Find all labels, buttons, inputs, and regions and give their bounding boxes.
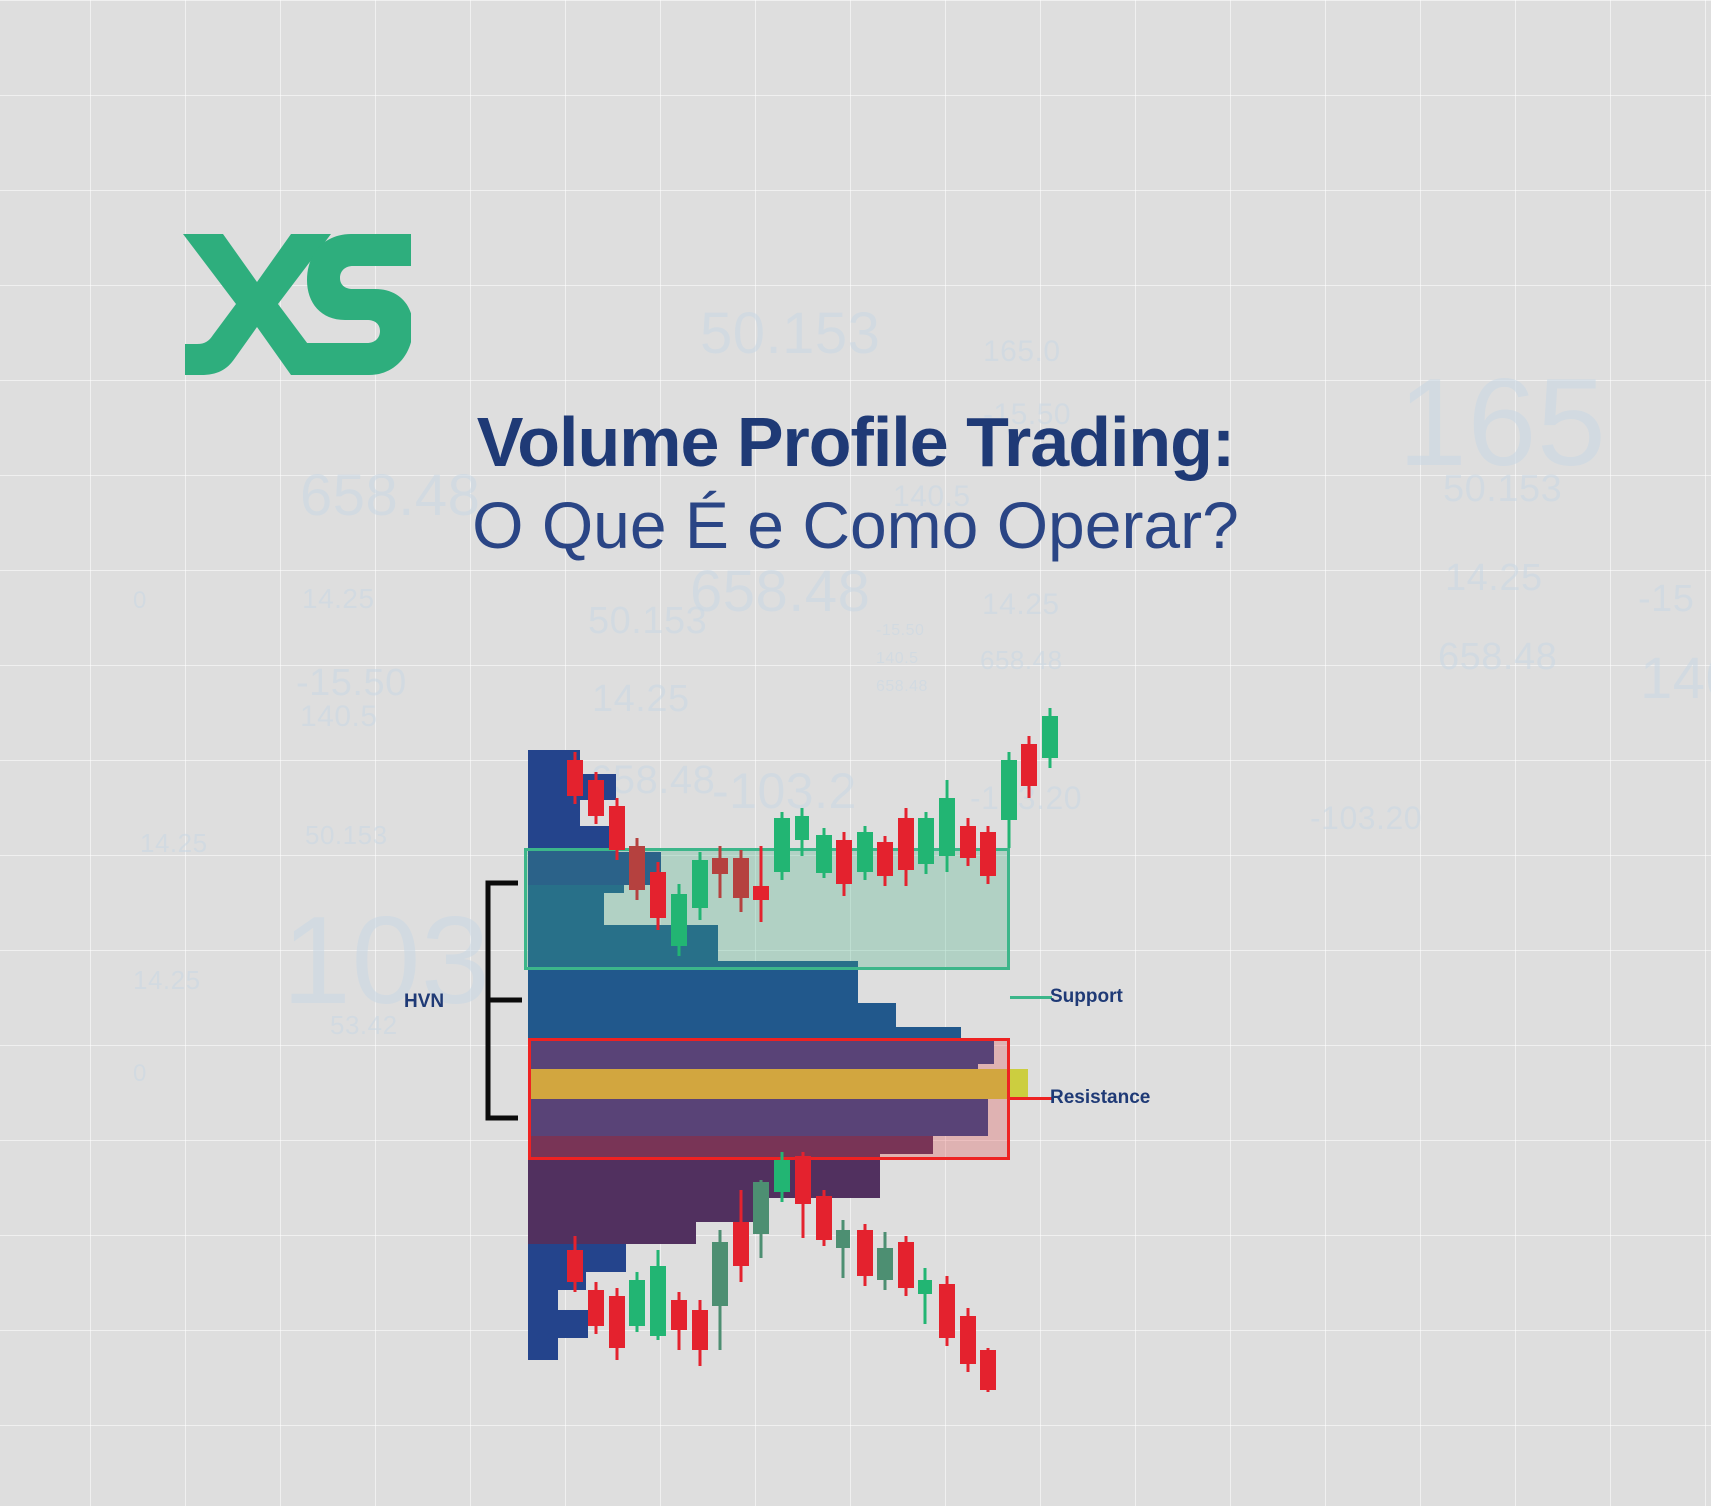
volume-profile-bar — [528, 1338, 558, 1360]
candle-body — [1042, 716, 1058, 758]
volume-profile-bar — [528, 1003, 896, 1027]
candle-body — [629, 1280, 645, 1326]
candlestick — [774, 1152, 790, 1202]
candle-body — [980, 832, 996, 876]
candle-body — [692, 1310, 708, 1350]
candle-body — [753, 886, 769, 900]
volume-profile-bar — [528, 1198, 758, 1222]
candle-body — [816, 835, 832, 873]
candlestick — [857, 1224, 873, 1286]
candlestick — [733, 1190, 749, 1282]
candlestick — [774, 812, 790, 880]
candle-body — [857, 1230, 873, 1276]
candle-body — [567, 760, 583, 796]
candlestick — [898, 1236, 914, 1296]
candle-body — [960, 826, 976, 858]
candle-body — [567, 1250, 583, 1282]
candlestick — [712, 846, 728, 898]
candle-body — [609, 1296, 625, 1348]
candlestick — [877, 836, 893, 886]
support-leader-line — [1010, 996, 1052, 999]
candle-body — [980, 1350, 996, 1390]
resistance-label: Resistance — [1050, 1087, 1150, 1109]
candle-body — [588, 780, 604, 816]
candle-body — [629, 846, 645, 890]
volume-profile-bar — [528, 1310, 588, 1338]
candle-body — [898, 1242, 914, 1288]
candle-body — [671, 894, 687, 946]
candle-body — [816, 1196, 832, 1240]
candlestick — [650, 1250, 666, 1340]
candlestick — [671, 1292, 687, 1350]
candlestick — [980, 826, 996, 884]
support-label: Support — [1050, 986, 1123, 1008]
candlestick — [960, 818, 976, 866]
candlestick — [567, 1236, 583, 1292]
candlestick — [629, 1272, 645, 1332]
candlestick — [671, 884, 687, 956]
candle-body — [836, 1230, 850, 1248]
candle-wick — [924, 1268, 927, 1324]
candle-wick — [760, 846, 763, 922]
poster-canvas: 50.153165.0165-15.5050.153658.48140.514.… — [0, 0, 1711, 1506]
candlestick — [1042, 708, 1058, 768]
candle-body — [939, 798, 955, 856]
candle-body — [795, 816, 809, 840]
candle-body — [609, 806, 625, 850]
candlestick — [857, 826, 873, 880]
resistance-zone-box[interactable] — [528, 1038, 1010, 1160]
candle-body — [650, 872, 666, 918]
candlestick — [588, 772, 604, 824]
candle-body — [588, 1290, 604, 1326]
candle-body — [753, 1182, 769, 1234]
candlestick — [816, 1190, 832, 1246]
candlestick — [960, 1308, 976, 1372]
candle-body — [712, 1242, 728, 1306]
candlestick — [980, 1348, 996, 1392]
candle-body — [712, 858, 728, 874]
candle-wick — [842, 1220, 845, 1278]
resistance-leader-line — [1010, 1097, 1052, 1100]
candlestick — [836, 1220, 850, 1278]
candlestick — [1021, 736, 1037, 798]
candle-body — [918, 818, 934, 864]
candle-body — [733, 858, 749, 898]
volume-profile-chart: Support Resistance HVN — [0, 0, 1711, 1506]
hvn-bracket-icon — [478, 880, 522, 1124]
hvn-label: HVN — [404, 991, 444, 1013]
candle-body — [939, 1284, 955, 1338]
candlestick — [650, 862, 666, 930]
candlestick — [939, 780, 955, 872]
candlestick — [795, 1152, 811, 1238]
candlestick — [629, 838, 645, 900]
candlestick — [918, 1268, 932, 1324]
candlestick — [1001, 752, 1017, 848]
candlestick — [795, 808, 809, 856]
candle-body — [774, 1160, 790, 1192]
candle-body — [671, 1300, 687, 1330]
candlestick — [692, 1300, 708, 1366]
volume-profile-bar — [528, 1290, 558, 1310]
candlestick — [939, 1276, 955, 1346]
volume-profile-bar — [528, 1222, 696, 1244]
candlestick — [588, 1282, 604, 1334]
candlestick — [712, 1230, 728, 1350]
candle-body — [774, 818, 790, 872]
candlestick — [816, 828, 832, 878]
candlestick — [567, 752, 583, 804]
candle-body — [733, 1222, 749, 1266]
candlestick — [918, 812, 934, 874]
candle-body — [836, 840, 852, 884]
candlestick — [733, 850, 749, 912]
candle-body — [960, 1316, 976, 1364]
candle-body — [877, 842, 893, 876]
candle-body — [877, 1248, 893, 1280]
candlestick — [836, 832, 852, 896]
candlestick — [609, 1288, 625, 1360]
candlestick — [898, 808, 914, 886]
candle-body — [898, 818, 914, 870]
candlestick — [692, 852, 708, 920]
candlestick — [609, 798, 625, 860]
volume-profile-bar — [528, 995, 858, 1003]
candle-body — [692, 860, 708, 908]
candle-body — [918, 1280, 932, 1294]
candlestick — [877, 1232, 893, 1290]
candlestick — [753, 1180, 769, 1258]
candle-body — [857, 832, 873, 872]
candle-body — [1001, 760, 1017, 820]
candle-body — [650, 1266, 666, 1336]
candlestick — [753, 846, 769, 922]
candle-body — [1021, 744, 1037, 786]
candle-body — [795, 1156, 811, 1204]
